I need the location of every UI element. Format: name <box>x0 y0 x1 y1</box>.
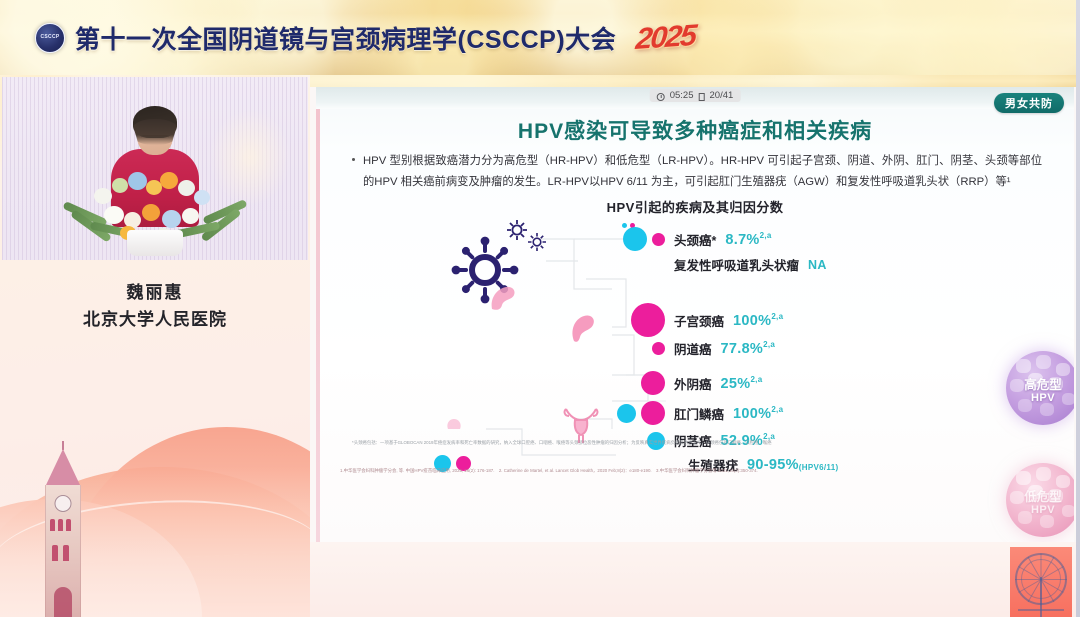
virus-sparkle-small-icon <box>526 231 548 253</box>
row-value: 100%2,a <box>733 312 783 329</box>
dot-cyan <box>617 404 636 423</box>
dot-magenta <box>652 342 665 355</box>
clock-icon <box>657 93 665 101</box>
chart-title: HPV引起的疾病及其归因分数 <box>316 197 1074 216</box>
banner-year: 2025 <box>634 18 696 56</box>
slide-meta-pill: 05:25 20/41 <box>650 89 741 102</box>
row-label: 外阴癌 <box>674 374 712 393</box>
data-row-head-neck-cancer: 头颈癌* 8.7%2,a <box>611 227 772 251</box>
row-value: 77.8%2,a <box>721 340 776 357</box>
slide-canvas: 05:25 20/41 男女共防 HPV感染可导致多种癌症和相关疾病 HPV 型… <box>316 87 1074 542</box>
row-dots <box>611 371 665 395</box>
speaker-name: 魏丽惠 <box>0 278 310 303</box>
row-dots <box>611 303 665 337</box>
banner-title: 第十一次全国阴道镜与宫颈病理学(CSCCP)大会 <box>75 20 616 56</box>
data-row-anal-squamous-cancer: 肛门鳞癌 100%2,a <box>611 401 783 425</box>
flower-vase <box>127 230 183 256</box>
bullet-dot-icon <box>352 158 355 161</box>
row-dots <box>611 401 665 425</box>
speaker-video-feed[interactable] <box>2 77 308 260</box>
speaker-organization: 北京大学人民医院 <box>0 305 310 330</box>
row-label: 头颈癌* <box>674 230 716 249</box>
bullet-text: HPV 型别根据致癌潜力分为高危型（HR-HPV）和低危型（LR-HPV）。HR… <box>363 151 1042 193</box>
dot-cyan <box>623 227 647 251</box>
slide-footnote: *头颈癌包括：一项基于GLOBOCAN 2019年癌症发病率和死亡率数据的研究，… <box>352 439 912 446</box>
slide-gold-strip <box>310 75 1080 87</box>
dot-magenta <box>641 371 665 395</box>
slide-counter: 20/41 <box>710 90 734 101</box>
window-right-edge <box>1076 0 1080 617</box>
clock-tower-landmark <box>42 449 84 617</box>
presentation-slide-area[interactable]: 05:25 20/41 男女共防 HPV感染可导致多种癌症和相关疾病 HPV 型… <box>310 75 1080 617</box>
row-value: 100%2,a <box>733 405 783 422</box>
row-label: 复发性呼吸道乳头状瘤 <box>674 255 799 274</box>
logo-text: CSCCP <box>40 35 59 41</box>
dot-magenta <box>641 401 665 425</box>
row-dots <box>611 227 665 251</box>
status-badge: 男女共防 <box>994 93 1064 113</box>
capsid-label-high: 高危型 HPV <box>1006 378 1074 405</box>
pages-icon <box>699 93 705 101</box>
low-risk-hpv-capsid: 低危型 HPV <box>1006 463 1074 537</box>
slide-title: HPV感染可导致多种癌症和相关疾病 <box>316 115 1074 145</box>
data-row-rrp: 复发性呼吸道乳头状瘤 NA <box>611 255 827 274</box>
anus-organ-icon <box>444 415 464 433</box>
throat-organ-icon <box>486 283 522 313</box>
banner-content: CSCCP 第十一次全国阴道镜与宫颈病理学(CSCCP)大会 2025 <box>35 0 695 75</box>
slide-bottom-strip <box>310 542 1080 617</box>
data-row-vulvar-cancer: 外阴癌 25%2,a <box>611 371 762 395</box>
slide-left-accent <box>316 87 320 542</box>
slide-bullet: HPV 型别根据致癌潜力分为高危型（HR-HPV）和低危型（LR-HPV）。HR… <box>352 151 1042 193</box>
row-value: 25%2,a <box>721 375 763 392</box>
dot-magenta <box>631 303 665 337</box>
elapsed-time: 05:25 <box>670 90 694 101</box>
dot-magenta <box>652 233 665 246</box>
tower-clock-icon <box>55 495 72 512</box>
data-row-cervical-cancer: 子宫颈癌 100%2,a <box>611 303 783 337</box>
csccp-logo: CSCCP <box>35 23 65 53</box>
data-row-vaginal-cancer: 阴道癌 77.8%2,a <box>611 339 775 358</box>
conference-banner: CSCCP 第十一次全国阴道镜与宫颈病理学(CSCCP)大会 2025 <box>0 0 1080 75</box>
slide-references: 1.中华医学会妇科肿瘤学分会, 等. 中国HPV疫苗临床应用, 2025, 26… <box>340 467 940 475</box>
speaker-panel: 魏丽惠 北京大学人民医院 <box>0 75 310 617</box>
ferris-wheel-decoration <box>1010 547 1072 617</box>
podium-flower-arrangement <box>60 164 250 256</box>
speaker-glasses <box>141 135 169 143</box>
row-dots <box>611 342 665 355</box>
capsid-label-low: 低危型 HPV <box>1006 490 1074 517</box>
row-label: 子宫颈癌 <box>674 311 724 330</box>
larynx-organ-icon <box>566 311 602 345</box>
decorative-mountains <box>0 392 310 617</box>
row-value: 8.7%2,a <box>725 231 771 248</box>
row-value: NA <box>808 258 827 272</box>
row-label: 肛门鳞癌 <box>674 404 724 423</box>
row-label: 阴道癌 <box>674 339 712 358</box>
high-risk-hpv-capsid: 高危型 HPV <box>1006 351 1074 425</box>
